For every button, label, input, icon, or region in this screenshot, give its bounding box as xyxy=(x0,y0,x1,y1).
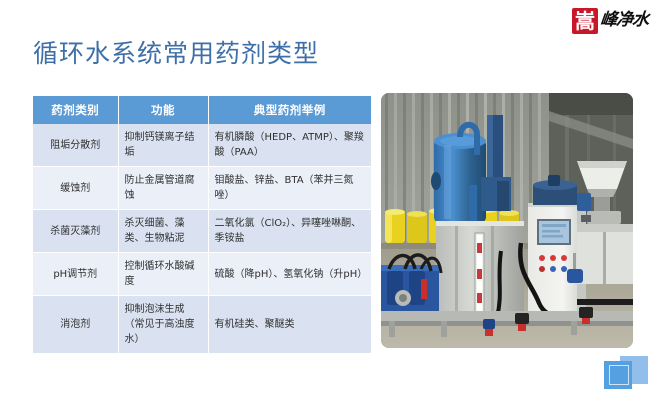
cell-category: 消泡剂 xyxy=(33,296,118,354)
table-row: 缓蚀剂 防止金属管道腐蚀 钼酸盐、锌盐、BTA（苯并三氮唑） xyxy=(33,167,371,210)
equipment-photo xyxy=(381,93,633,348)
chemical-types-table: 药剂类别 功能 典型药剂举例 阻垢分散剂 抑制钙镁离子结垢 有机膦酸（HEDP、… xyxy=(33,96,371,354)
column-header-category: 药剂类别 xyxy=(33,96,118,124)
table-header-row: 药剂类别 功能 典型药剂举例 xyxy=(33,96,371,124)
table-row: 杀菌灭藻剂 杀灭细菌、藻类、生物粘泥 二氧化氯（ClO₂）、异噻唑啉酮、季铵盐 xyxy=(33,210,371,253)
cell-category: pH调节剂 xyxy=(33,253,118,296)
stainless-tank xyxy=(436,221,524,325)
brand-name: 峰净水 xyxy=(599,12,649,31)
cell-function: 抑制钙镁离子结垢 xyxy=(118,124,208,167)
cell-function: 防止金属管道腐蚀 xyxy=(118,167,208,210)
cell-examples: 二氧化氯（ClO₂）、异噻唑啉酮、季铵盐 xyxy=(208,210,371,253)
blue-pressure-tank xyxy=(431,125,486,233)
cell-category: 杀菌灭藻剂 xyxy=(33,210,118,253)
cell-examples: 有机膦酸（HEDP、ATMP）、聚羧酸（PAA） xyxy=(208,124,371,167)
cell-function: 抑制泡沫生成（常见于高浊度水） xyxy=(118,296,208,354)
table-row: 消泡剂 抑制泡沫生成（常见于高浊度水） 有机硅类、聚醚类 xyxy=(33,296,371,354)
column-header-examples: 典型药剂举例 xyxy=(208,96,371,124)
cell-category: 阻垢分散剂 xyxy=(33,124,118,167)
cell-function: 控制循环水酸碱度 xyxy=(118,253,208,296)
slide: 嵩 峰净水 循环水系统常用药剂类型 药剂类别 功能 典型药剂举例 阻垢分散剂 抑… xyxy=(0,0,660,400)
page-title: 循环水系统常用药剂类型 xyxy=(33,34,319,70)
seal-icon: 嵩 xyxy=(572,8,598,34)
company-logo: 嵩 峰净水 xyxy=(572,8,648,34)
cell-examples: 有机硅类、聚醚类 xyxy=(208,296,371,354)
decoration-square-outline xyxy=(609,365,629,385)
square-motif-decoration xyxy=(602,354,648,392)
cell-category: 缓蚀剂 xyxy=(33,167,118,210)
cell-examples: 硫酸（降pH）、氢氧化钠（升pH） xyxy=(208,253,371,296)
cell-examples: 钼酸盐、锌盐、BTA（苯并三氮唑） xyxy=(208,167,371,210)
table-row: 阻垢分散剂 抑制钙镁离子结垢 有机膦酸（HEDP、ATMP）、聚羧酸（PAA） xyxy=(33,124,371,167)
table-row: pH调节剂 控制循环水酸碱度 硫酸（降pH）、氢氧化钠（升pH） xyxy=(33,253,371,296)
cell-function: 杀灭细菌、藻类、生物粘泥 xyxy=(118,210,208,253)
column-header-function: 功能 xyxy=(118,96,208,124)
equipment-photo-illustration xyxy=(381,93,633,348)
